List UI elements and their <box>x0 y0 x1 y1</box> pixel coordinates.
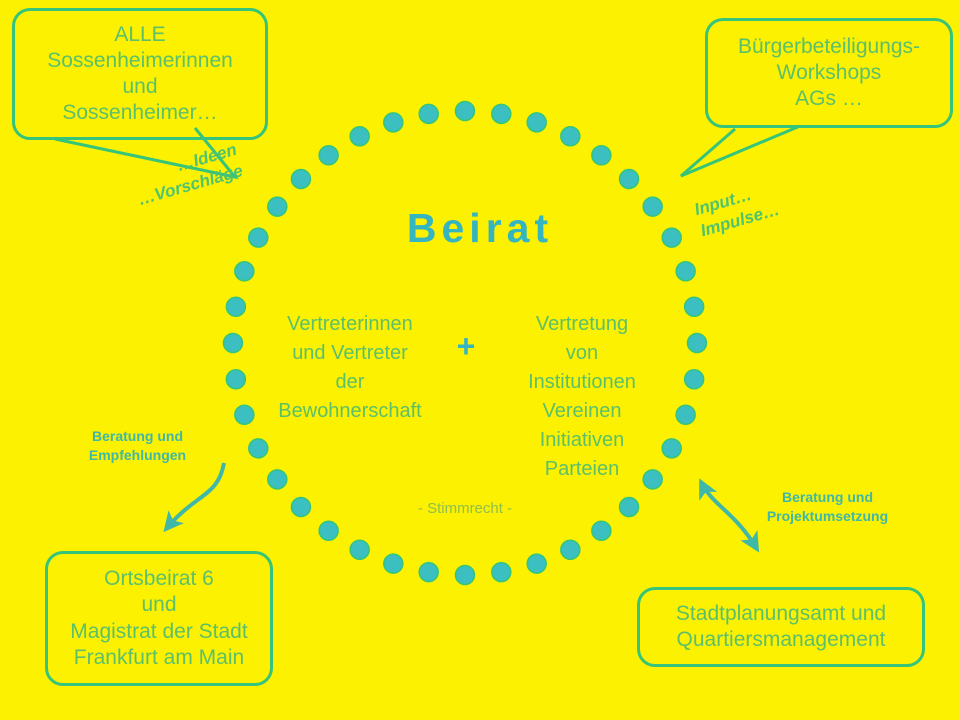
ring-dot <box>235 262 254 281</box>
ring-dot <box>561 540 580 559</box>
ring-dot <box>527 113 546 132</box>
callout-box-stadtplanungsamt[interactable]: Stadtplanungsamt und Quartiersmanagement <box>637 587 925 667</box>
ring-dot <box>224 334 243 353</box>
ring-dot <box>685 370 704 389</box>
ring-dot <box>419 563 438 582</box>
callout-box-buergerbeteiligung[interactable]: Bürgerbeteiligungs- Workshops AGs … <box>705 18 953 128</box>
ring-dot <box>291 169 310 188</box>
ring-dot <box>350 127 369 146</box>
callout-box-buergerbeteiligung-label: Bürgerbeteiligungs- Workshops AGs … <box>738 34 920 113</box>
arrow-beratung-empfehlungen <box>166 463 224 529</box>
ring-dot <box>592 521 611 540</box>
ring-dot <box>456 102 475 121</box>
annotation-ideen-vorschlaege: …Ideen …Vorschläge <box>118 139 246 215</box>
annotation-beratung-projektumsetzung: Beratung und Projektumsetzung <box>745 488 910 526</box>
ring-dot <box>235 405 254 424</box>
callout-box-ortsbeirat-label: Ortsbeirat 6 und Magistrat der Stadt Fra… <box>70 566 247 671</box>
ring-dot <box>350 540 369 559</box>
ring-dot <box>685 297 704 316</box>
diagram-canvas: ALLE Sossenheimerinnen und Sossenheimer…… <box>0 0 960 720</box>
center-column-left: Vertreterinnen und Vertreter der Bewohne… <box>252 310 448 426</box>
ring-dot <box>384 554 403 573</box>
center-footnote: - Stimmrecht - <box>345 500 585 517</box>
ring-dot <box>620 169 639 188</box>
plus-icon: + <box>446 330 486 362</box>
ring-dot <box>676 262 695 281</box>
ring-dot <box>291 498 310 517</box>
callout-box-alle-label: ALLE Sossenheimerinnen und Sossenheimer… <box>47 22 233 127</box>
ring-dot <box>419 104 438 123</box>
ring-dot <box>268 470 287 489</box>
ring-dot <box>527 554 546 573</box>
ring-dot <box>492 563 511 582</box>
ring-dot <box>620 498 639 517</box>
annotation-beratung-empfehlungen: Beratung und Empfehlungen <box>70 427 205 465</box>
center-column-right: Vertretung von Institutionen Vereinen In… <box>482 310 682 484</box>
ring-dot <box>319 521 338 540</box>
ring-dot <box>249 439 268 458</box>
ring-dot <box>319 146 338 165</box>
diagram-title: Beirat <box>0 205 960 252</box>
ring-dot <box>226 370 245 389</box>
callout-box-stadtplanungsamt-label: Stadtplanungsamt und Quartiersmanagement <box>676 601 886 654</box>
ring-dot <box>592 146 611 165</box>
ring-dot <box>456 566 475 585</box>
ring-dot <box>226 297 245 316</box>
callout-box-ortsbeirat[interactable]: Ortsbeirat 6 und Magistrat der Stadt Fra… <box>45 551 273 686</box>
callout-box-alle[interactable]: ALLE Sossenheimerinnen und Sossenheimer… <box>12 8 268 140</box>
ring-dot <box>688 334 707 353</box>
ring-dot <box>561 127 580 146</box>
ring-dot <box>492 104 511 123</box>
bubble-tail-buerger <box>681 126 800 176</box>
ring-dot <box>384 113 403 132</box>
